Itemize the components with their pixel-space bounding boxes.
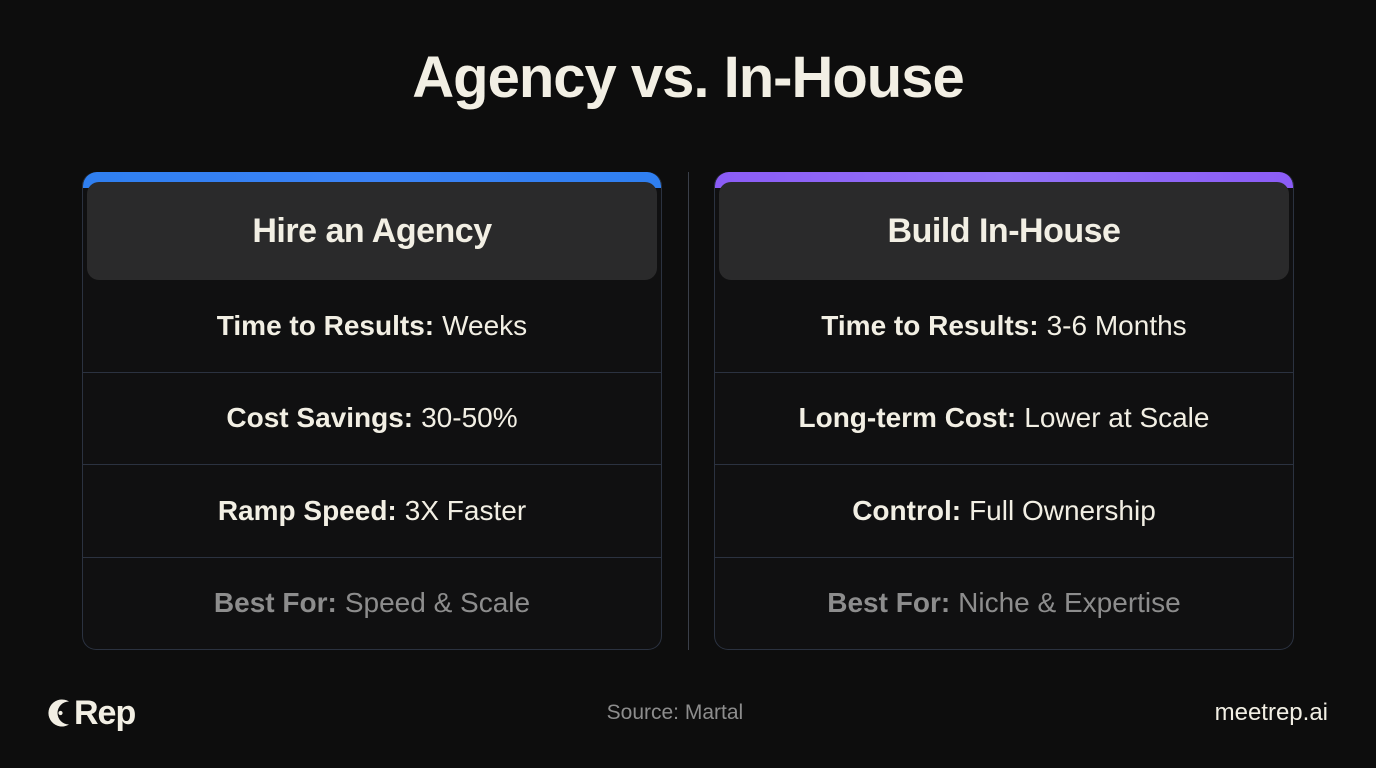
crescent-dot-icon <box>48 697 76 729</box>
cards-gap <box>662 172 714 650</box>
row-value: Full Ownership <box>969 495 1156 527</box>
footer: Rep Source: Martal meetrep.ai <box>0 658 1376 768</box>
table-row: Control: Full Ownership <box>715 464 1293 557</box>
card-header-agency: Hire an Agency <box>87 182 657 280</box>
card-rows-inhouse: Time to Results: 3-6 Months Long-term Co… <box>715 280 1293 649</box>
card-header-title-agency: Hire an Agency <box>252 212 491 251</box>
row-label: Best For: <box>214 587 337 619</box>
row-label: Best For: <box>827 587 950 619</box>
card-agency: Hire an Agency Time to Results: Weeks Co… <box>82 172 662 650</box>
table-row: Best For: Speed & Scale <box>83 557 661 650</box>
row-label: Time to Results: <box>821 310 1038 342</box>
table-row: Time to Results: 3-6 Months <box>715 280 1293 372</box>
table-row: Time to Results: Weeks <box>83 280 661 372</box>
brand-logo-text: Rep <box>74 694 135 733</box>
row-value: 3X Faster <box>405 495 526 527</box>
source-attribution: Source: Martal <box>135 701 1214 725</box>
comparison-cards: Hire an Agency Time to Results: Weeks Co… <box>0 172 1376 652</box>
table-row: Cost Savings: 30-50% <box>83 372 661 465</box>
row-value: Speed & Scale <box>345 587 530 619</box>
card-header-inhouse: Build In-House <box>719 182 1289 280</box>
row-label: Control: <box>852 495 961 527</box>
row-label: Long-term Cost: <box>799 402 1017 434</box>
row-label: Time to Results: <box>217 310 434 342</box>
vertical-divider <box>688 172 689 650</box>
row-value: Weeks <box>442 310 527 342</box>
row-label: Cost Savings: <box>226 402 413 434</box>
table-row: Best For: Niche & Expertise <box>715 557 1293 650</box>
row-value: Niche & Expertise <box>958 587 1181 619</box>
card-inhouse: Build In-House Time to Results: 3-6 Mont… <box>714 172 1294 650</box>
row-value: Lower at Scale <box>1024 402 1209 434</box>
site-url: meetrep.ai <box>1215 699 1328 727</box>
page-title: Agency vs. In-House <box>0 48 1376 109</box>
table-row: Long-term Cost: Lower at Scale <box>715 372 1293 465</box>
card-header-title-inhouse: Build In-House <box>888 212 1121 251</box>
row-value: 3-6 Months <box>1047 310 1187 342</box>
card-rows-agency: Time to Results: Weeks Cost Savings: 30-… <box>83 280 661 649</box>
row-value: 30-50% <box>421 402 518 434</box>
table-row: Ramp Speed: 3X Faster <box>83 464 661 557</box>
row-label: Ramp Speed: <box>218 495 397 527</box>
brand-logo: Rep <box>48 694 135 733</box>
